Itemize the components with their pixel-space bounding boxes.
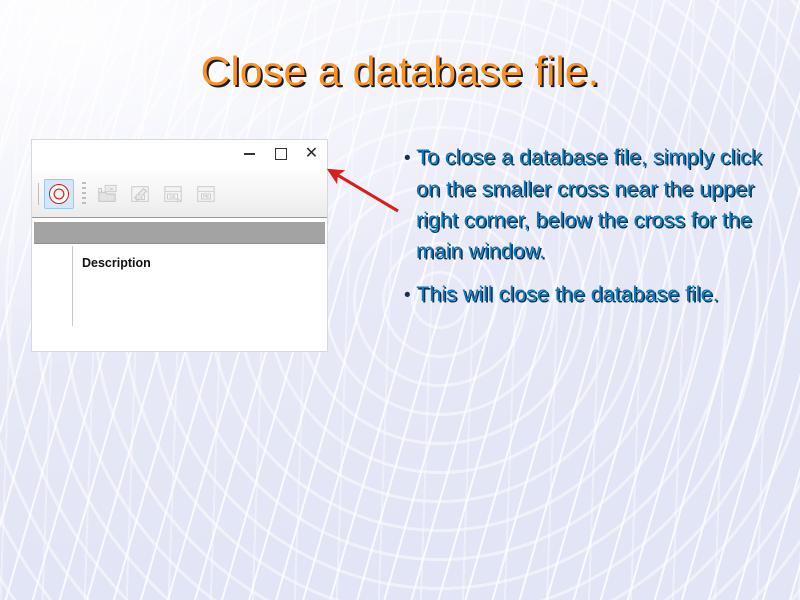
svg-text:OK: OK (138, 194, 144, 199)
lifebuoy-icon (48, 183, 70, 205)
toolbar-edge-separator (38, 183, 39, 205)
bullet-paragraph-2: • This will close the database file. (404, 279, 764, 311)
column-divider (72, 246, 73, 326)
pb-window-icon: PB (195, 184, 217, 204)
ok-window-icon: OK (162, 184, 184, 204)
toolbar-drag-grip[interactable] (81, 182, 88, 206)
svg-text:OK: OK (169, 194, 175, 199)
toolbar-open-button[interactable]: OK (92, 179, 122, 209)
app-window-screenshot: ✕ ✕ (31, 139, 328, 352)
body-text-block: • To close a database file, simply click… (404, 142, 764, 323)
open-folder-icon: OK (96, 184, 118, 204)
toolbar-edit-button[interactable]: OK (125, 179, 155, 209)
window-toolbar: OK OK OK (32, 170, 327, 218)
bullet-glyph: • (404, 148, 411, 169)
window-title-bar: ✕ ✕ (32, 140, 327, 170)
bullet-text-1: To close a database file, simply click o… (416, 145, 762, 263)
bullet-paragraph-1: • To close a database file, simply click… (404, 142, 764, 267)
minimize-button[interactable] (234, 140, 265, 168)
svg-text:OK: OK (107, 186, 114, 191)
maximize-button[interactable] (265, 140, 296, 168)
toolbar-pb-button[interactable]: PB (191, 179, 221, 209)
window-content-pane: Description (34, 244, 325, 326)
bullet-glyph: • (404, 285, 411, 306)
toolbar-lifebuoy-button[interactable] (44, 179, 74, 209)
slide-canvas: Close a database file. • To close a data… (0, 0, 800, 600)
bullet-text-2: This will close the database file. (416, 282, 718, 306)
svg-text:PB: PB (203, 194, 209, 199)
toolbar-ok-button[interactable]: OK (158, 179, 188, 209)
column-header-band (34, 222, 325, 244)
slide-title: Close a database file. (0, 48, 800, 95)
close-button[interactable]: ✕ (296, 140, 327, 168)
edit-pencil-icon: OK (129, 184, 151, 204)
window-caption-buttons: ✕ (234, 140, 327, 168)
description-column-header: Description (82, 256, 151, 270)
